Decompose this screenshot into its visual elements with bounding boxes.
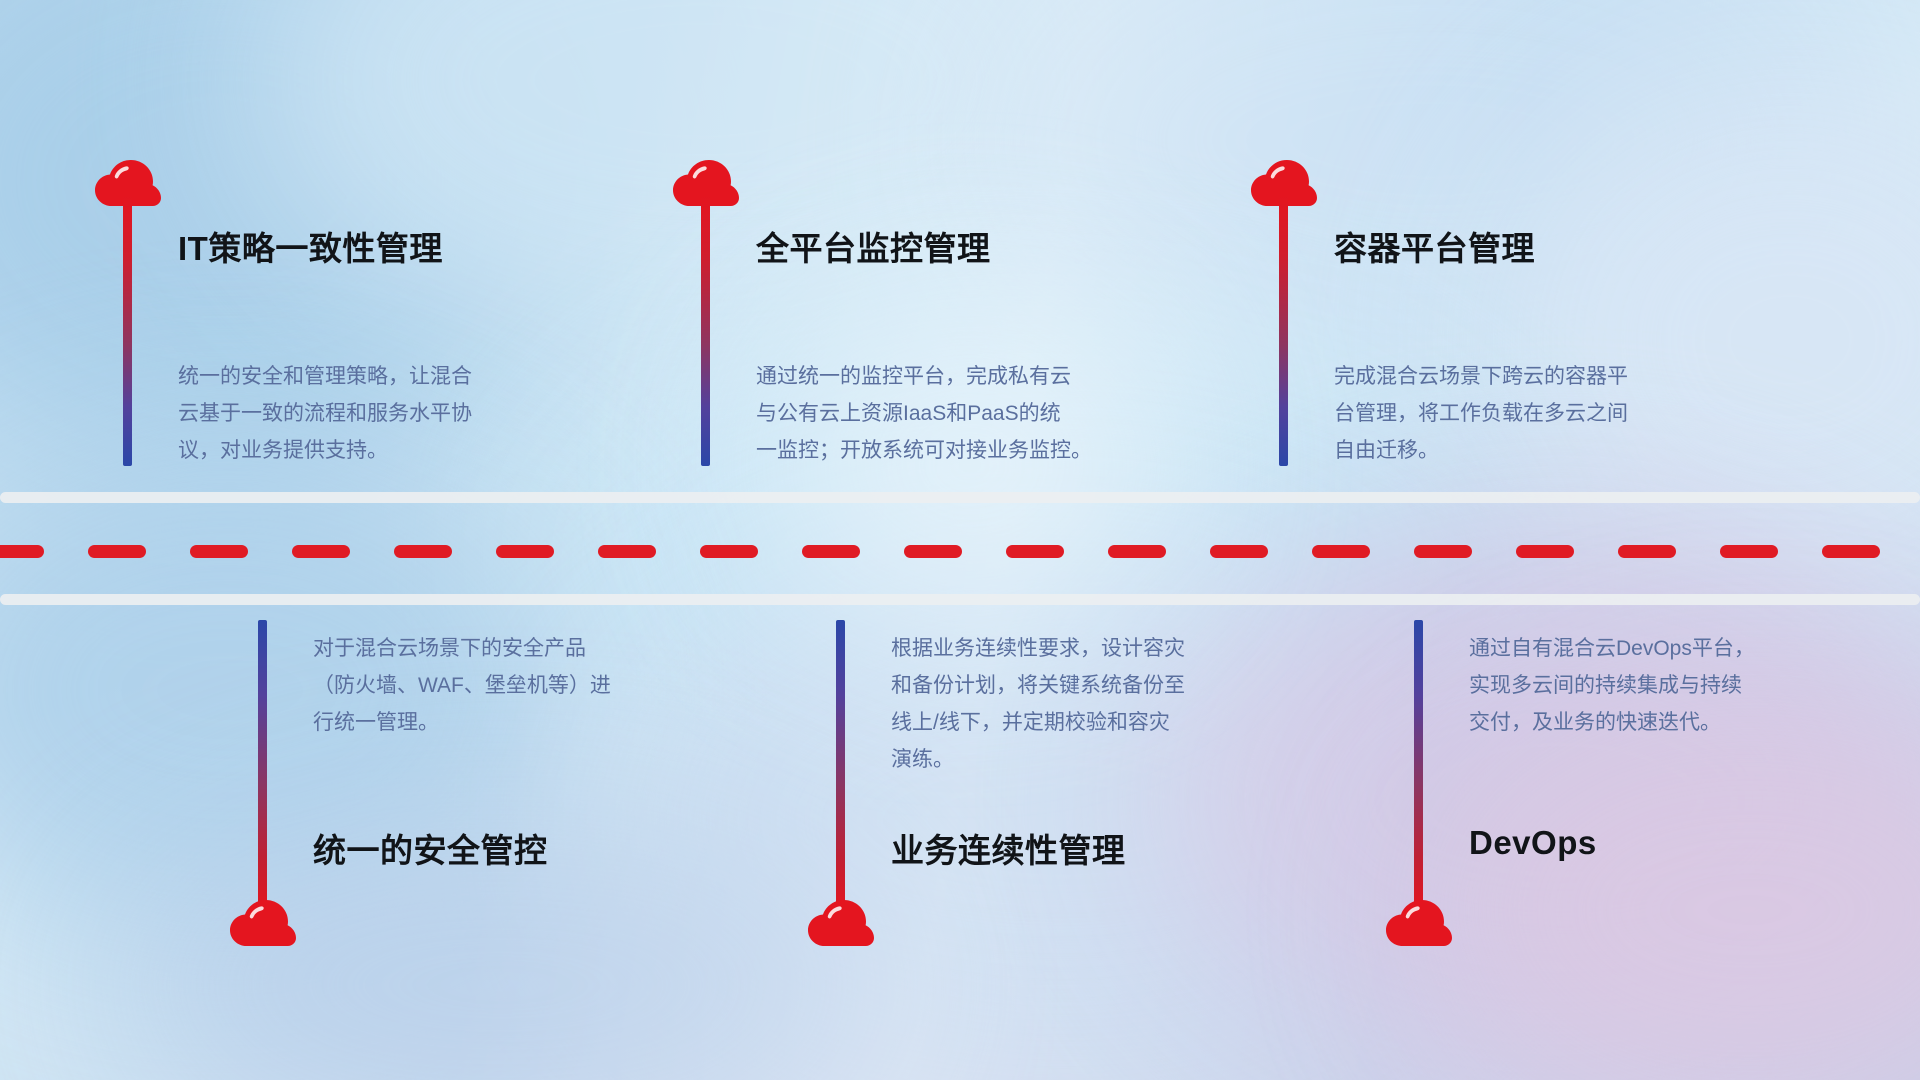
timeline-bar [258,620,267,910]
body-line: 和备份计划，将关键系统备份至 [891,667,1236,704]
cloud-icon [1386,900,1452,948]
infographic-canvas: IT策略一致性管理 统一的安全和管理策略，让混合 云基于一致的流程和服务水平协 … [0,0,1920,1080]
timeline-bar [123,196,132,466]
timeline-bar [701,196,710,466]
divider-rule-bottom [0,594,1920,605]
body-line: 自由迁移。 [1334,432,1679,469]
card-body: 通过自有混合云DevOps平台， 实现多云间的持续集成与持续 交付，及业务的快速… [1469,630,1814,741]
card-title: DevOps [1469,824,1597,862]
dash-segment [1414,545,1472,558]
body-line: 交付，及业务的快速迭代。 [1469,704,1814,741]
card-title: 业务连续性管理 [891,824,1126,872]
body-line: 根据业务连续性要求，设计容灾 [891,630,1236,667]
dash-segment [394,545,452,558]
body-line: 统一的安全和管理策略，让混合 [178,358,523,395]
dash-segment [1618,545,1676,558]
body-line: 通过自有混合云DevOps平台， [1469,630,1814,667]
dash-segment [1006,545,1064,558]
body-line: （防火墙、WAF、堡垒机等）进 [313,667,658,704]
dash-segment [1516,545,1574,558]
dash-segment [1210,545,1268,558]
dash-segment [0,545,44,558]
cloud-icon [808,900,874,948]
body-line: 演练。 [891,741,1236,778]
dash-segment [1108,545,1166,558]
body-line: 台管理，将工作负载在多云之间 [1334,395,1679,432]
timeline-bar [1414,620,1423,910]
body-line: 一监控；开放系统可对接业务监控。 [756,432,1101,469]
body-line: 完成混合云场景下跨云的容器平 [1334,358,1679,395]
body-line: 实现多云间的持续集成与持续 [1469,667,1814,704]
dash-segment [496,545,554,558]
dash-segment [598,545,656,558]
body-line: 行统一管理。 [313,704,658,741]
timeline-bar [1279,196,1288,466]
body-line: 线上/线下，并定期校验和容灾 [891,704,1236,741]
divider-rule-top [0,492,1920,503]
body-line: 议，对业务提供支持。 [178,432,523,469]
dash-segment [88,545,146,558]
dash-segment [292,545,350,558]
dash-segment [700,545,758,558]
dash-segment [190,545,248,558]
card-body: 统一的安全和管理策略，让混合 云基于一致的流程和服务水平协 议，对业务提供支持。 [178,358,523,469]
dashed-separator [0,545,1920,558]
body-line: 云基于一致的流程和服务水平协 [178,395,523,432]
card-title: 统一的安全管控 [313,824,548,872]
card-body: 通过统一的监控平台，完成私有云 与公有云上资源IaaS和PaaS的统 一监控；开… [756,358,1101,469]
dash-segment [1822,545,1880,558]
body-line: 对于混合云场景下的安全产品 [313,630,658,667]
cloud-icon [230,900,296,948]
card-body: 完成混合云场景下跨云的容器平 台管理，将工作负载在多云之间 自由迁移。 [1334,358,1679,469]
dash-segment [1312,545,1370,558]
timeline-bar [836,620,845,910]
card-body: 对于混合云场景下的安全产品 （防火墙、WAF、堡垒机等）进 行统一管理。 [313,630,658,741]
dash-segment [1720,545,1778,558]
dash-segment [904,545,962,558]
card-title: IT策略一致性管理 [178,222,443,270]
card-title: 容器平台管理 [1334,222,1535,270]
card-title: 全平台监控管理 [756,222,991,270]
dash-segment [802,545,860,558]
body-line: 通过统一的监控平台，完成私有云 [756,358,1101,395]
card-body: 根据业务连续性要求，设计容灾 和备份计划，将关键系统备份至 线上/线下，并定期校… [891,630,1236,778]
body-line: 与公有云上资源IaaS和PaaS的统 [756,395,1101,432]
